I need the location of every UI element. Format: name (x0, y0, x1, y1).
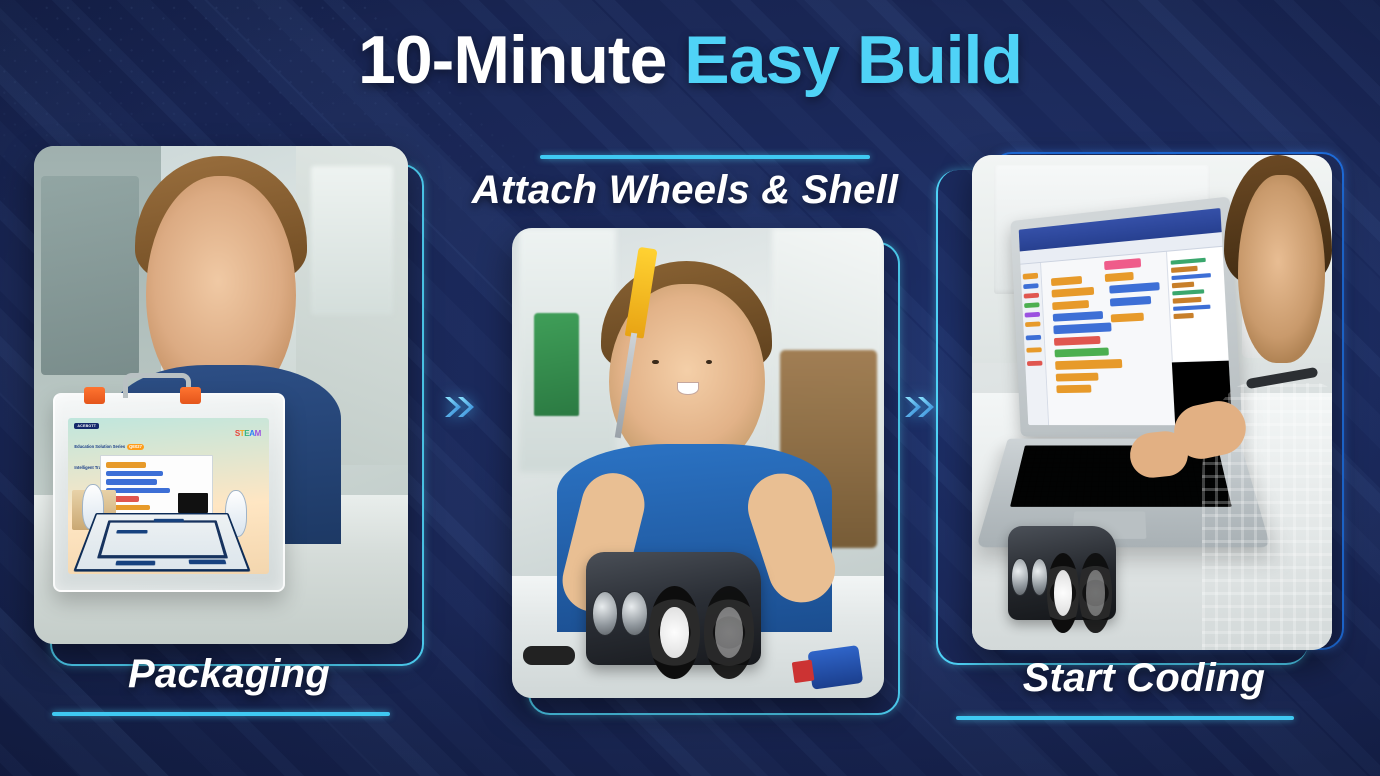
title-accent: Easy Build (684, 22, 1022, 98)
step-card-3[interactable]: Start Coding (944, 150, 1344, 670)
step-1-rule (52, 712, 390, 716)
step-2-rule (540, 155, 870, 159)
assembled-robot-car (1008, 526, 1116, 620)
steam-logo: STEAM (235, 429, 261, 440)
step-card-1[interactable]: ACEBOTT Education Solution SeriesQE027 I… (34, 146, 424, 666)
step-1-caption: Packaging (34, 652, 424, 697)
brand-badge: ACEBOTT (74, 423, 99, 430)
robot-car (586, 552, 761, 665)
step-3-photo[interactable] (972, 155, 1332, 650)
page-title: 10-Minute Easy Build (0, 21, 1380, 99)
label-sku: QE027 (127, 444, 144, 449)
product-label: ACEBOTT Education Solution SeriesQE027 I… (68, 418, 269, 574)
coding-ide (1019, 209, 1233, 426)
step-3-rule (956, 716, 1294, 720)
step-3-caption: Start Coding (944, 656, 1344, 701)
product-case: ACEBOTT Education Solution SeriesQE027 I… (53, 393, 285, 592)
step-2-photo[interactable] (512, 228, 884, 698)
step-2-caption: Attach Wheels & Shell (448, 168, 922, 213)
step-1-photo[interactable]: ACEBOTT Education Solution SeriesQE027 I… (34, 146, 408, 644)
step-card-2[interactable]: Attach Wheels & Shell (470, 150, 900, 715)
title-main: 10-Minute (358, 22, 666, 98)
label-line-1: Education Solution Series (74, 444, 125, 449)
